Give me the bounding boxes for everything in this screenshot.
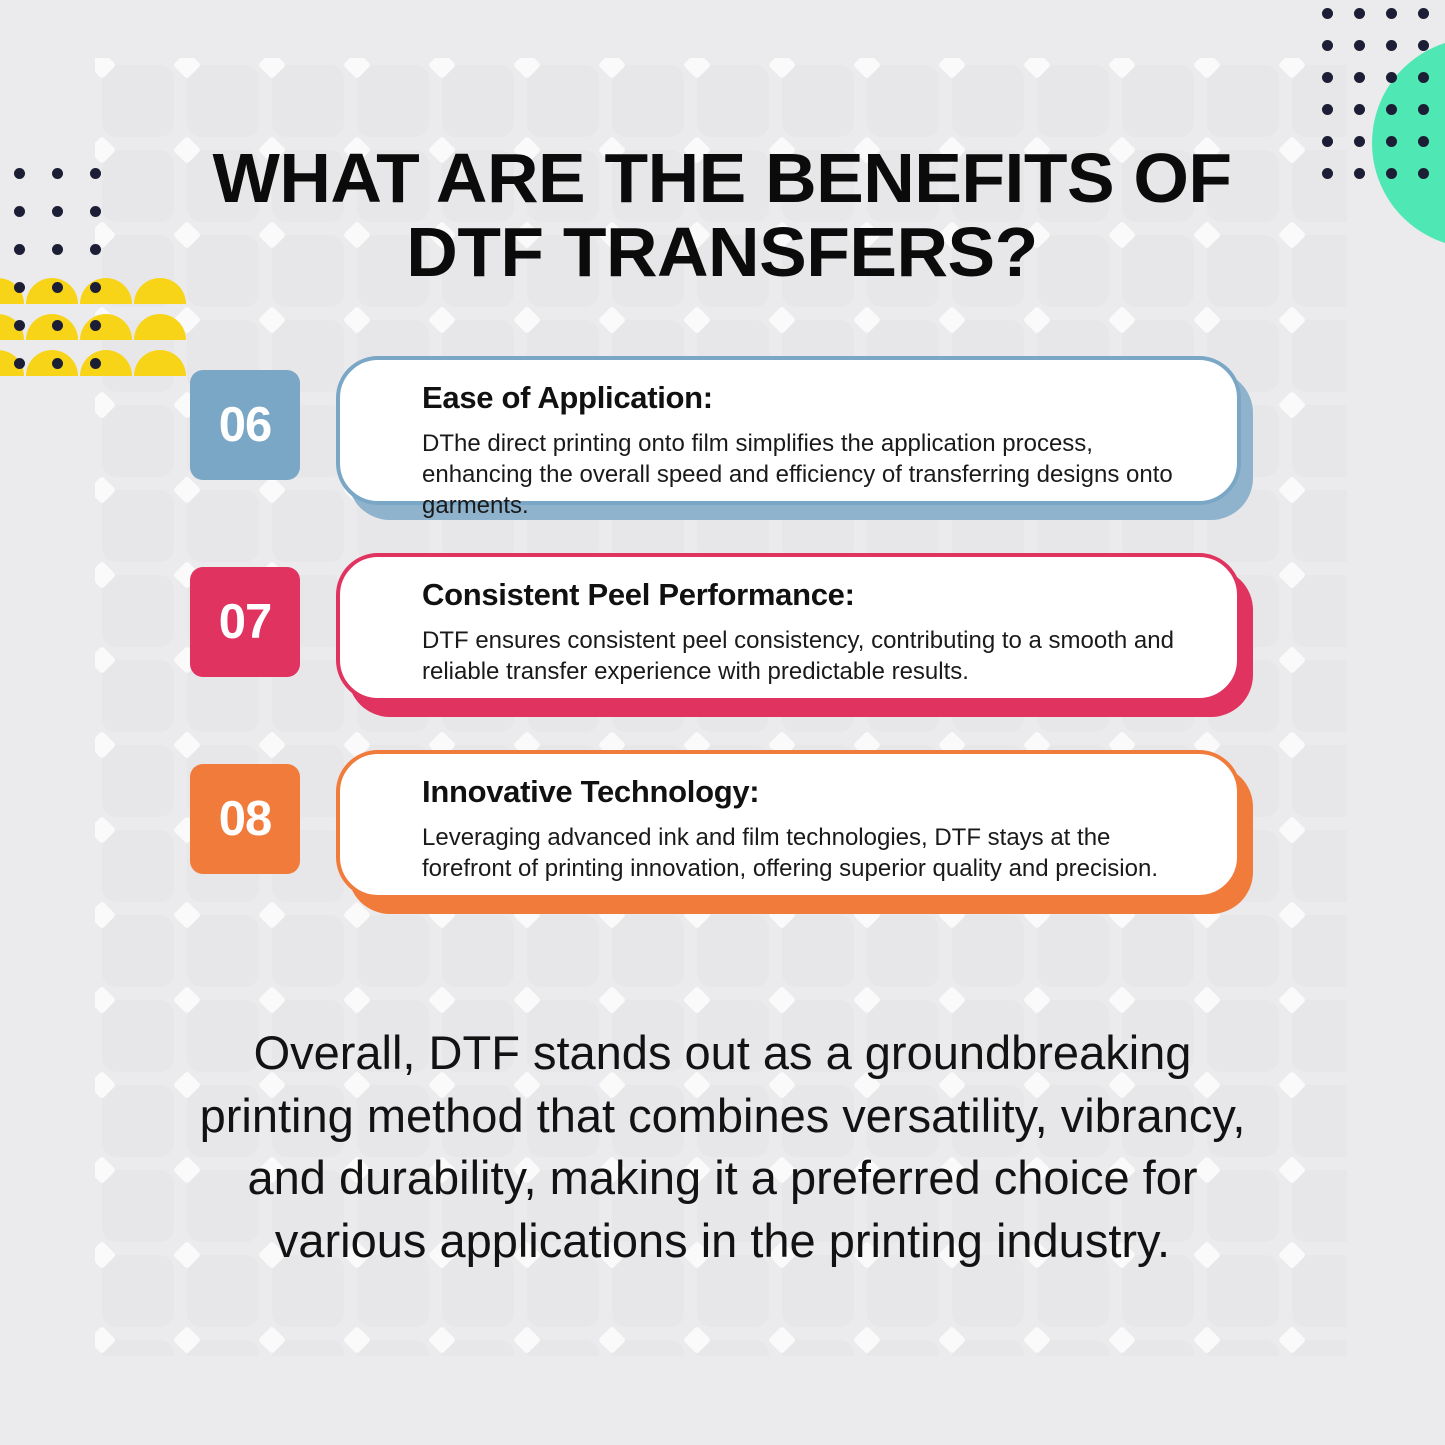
benefit-card: Innovative Technology: Leveraging advanc… — [336, 750, 1241, 899]
benefit-body-text: Leveraging advanced ink and film technol… — [422, 822, 1197, 884]
benefit-item: 06 Ease of Application: DThe direct prin… — [0, 352, 1445, 522]
benefit-heading: Ease of Application: — [422, 380, 1197, 416]
benefit-number-badge: 06 — [190, 370, 300, 480]
benefit-card: Ease of Application: DThe direct printin… — [336, 356, 1241, 505]
benefit-heading: Innovative Technology: — [422, 774, 1197, 810]
benefit-item: 07 Consistent Peel Performance: DTF ensu… — [0, 549, 1445, 719]
benefit-number-badge: 07 — [190, 567, 300, 677]
benefit-card: Consistent Peel Performance: DTF ensures… — [336, 553, 1241, 702]
infographic-content: WHAT ARE THE BENEFITS OF DTF TRANSFERS? … — [0, 0, 1445, 1445]
benefit-body-text: DTF ensures consistent peel consistency,… — [422, 625, 1197, 687]
closing-paragraph: Overall, DTF stands out as a groundbreak… — [175, 1022, 1270, 1272]
benefit-number-badge: 08 — [190, 764, 300, 874]
page-title: WHAT ARE THE BENEFITS OF DTF TRANSFERS? — [161, 142, 1283, 289]
benefit-heading: Consistent Peel Performance: — [422, 577, 1197, 613]
benefit-item: 08 Innovative Technology: Leveraging adv… — [0, 746, 1445, 916]
benefit-body-text: DThe direct printing onto film simplifie… — [422, 428, 1197, 522]
